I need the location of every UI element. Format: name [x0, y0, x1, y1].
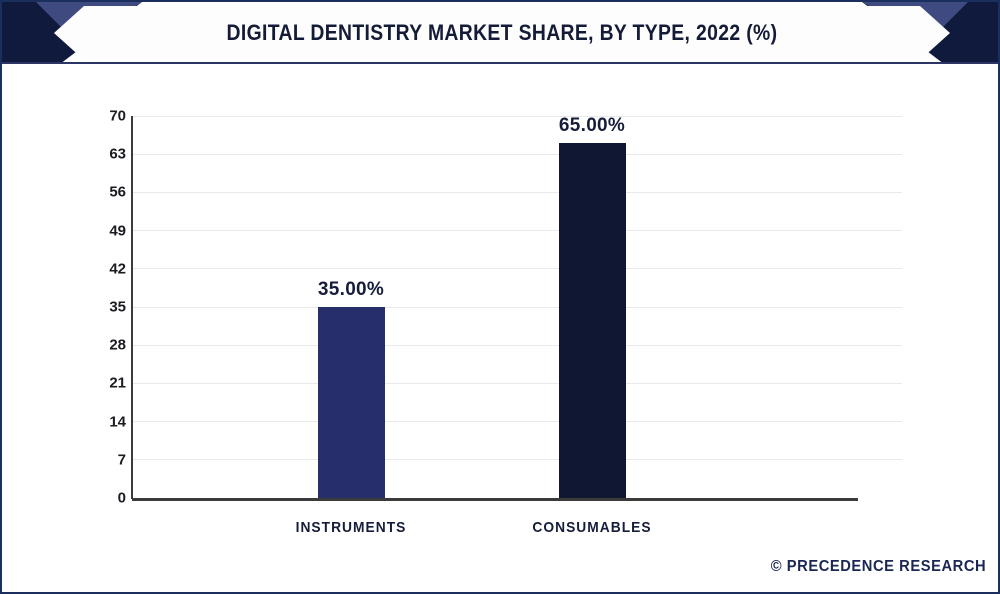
y-axis-labels: 07142128354249566370	[94, 64, 126, 594]
gridline	[133, 154, 902, 155]
y-axis-tick-63: 63	[94, 146, 126, 163]
header-banner: DIGITAL DENTISTRY MARKET SHARE, BY TYPE,…	[54, 6, 950, 60]
bar-consumables[interactable]: 65.00%	[559, 143, 626, 498]
x-axis-label-consumables: CONSUMABLES	[532, 519, 651, 536]
gridline	[133, 383, 902, 384]
page-title: DIGITAL DENTISTRY MARKET SHARE, BY TYPE,…	[227, 20, 778, 46]
y-axis-tick-28: 28	[94, 337, 126, 354]
y-axis-tick-35: 35	[94, 299, 126, 316]
chart-page: DIGITAL DENTISTRY MARKET SHARE, BY TYPE,…	[0, 0, 1000, 594]
gridline	[133, 421, 902, 422]
gridline	[133, 192, 902, 193]
y-axis-tick-21: 21	[94, 375, 126, 392]
gridline	[133, 230, 902, 231]
gridline	[133, 268, 902, 269]
bar-value-label: 35.00%	[318, 279, 384, 301]
y-axis-tick-0: 0	[94, 490, 126, 507]
y-axis-tick-42: 42	[94, 260, 126, 277]
x-axis-label-instruments: INSTRUMENTS	[296, 519, 407, 536]
y-axis-tick-14: 14	[94, 413, 126, 430]
y-axis-tick-70: 70	[94, 108, 126, 125]
bar-instruments[interactable]: 35.00%	[318, 307, 385, 498]
x-axis-line	[132, 498, 858, 501]
gridline	[133, 345, 902, 346]
y-axis-tick-7: 7	[94, 451, 126, 468]
precedence-research-watermark: © PRECEDENCE RESEARCH	[771, 558, 986, 576]
gridlines	[133, 64, 902, 594]
y-axis-tick-56: 56	[94, 184, 126, 201]
gridline	[133, 459, 902, 460]
chart-header: DIGITAL DENTISTRY MARKET SHARE, BY TYPE,…	[2, 2, 1000, 64]
gridline	[133, 307, 902, 308]
bar-value-label: 65.00%	[559, 115, 625, 137]
gridline	[133, 116, 902, 117]
chart-footer: © PRECEDENCE RESEARCH	[2, 550, 1000, 592]
y-axis-line	[131, 116, 133, 499]
plot-area: 07142128354249566370 35.00%65.00% INSTRU…	[2, 64, 1000, 594]
y-axis-tick-49: 49	[94, 222, 126, 239]
